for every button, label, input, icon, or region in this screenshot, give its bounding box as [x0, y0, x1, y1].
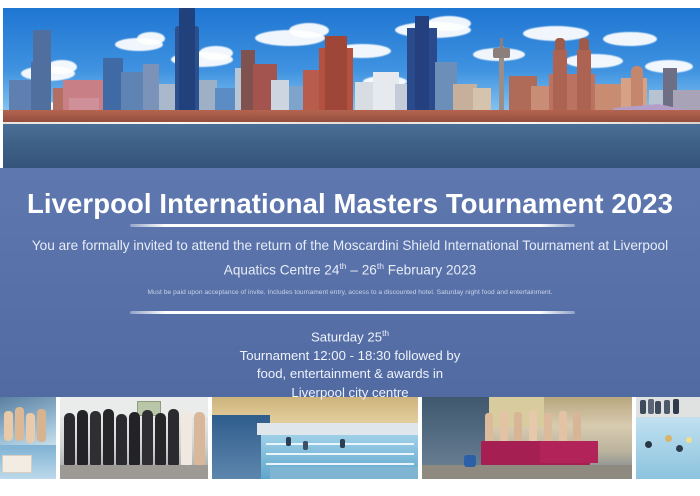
club-banner-pink-second [540, 441, 599, 463]
event-invitation-poster: Liverpool International Masters Tourname… [0, 0, 700, 496]
radio-city-tower-top [493, 48, 510, 58]
schedule-block: Saturday 25th Tournament 12:00 - 18:30 f… [0, 324, 700, 402]
team-member-figure [90, 411, 101, 465]
invitation-line-1: You are formally invited to attend the r… [32, 238, 668, 253]
invitation-body-panel: Liverpool International Masters Tourname… [0, 168, 700, 398]
pool-edge [270, 467, 418, 479]
schedule-times: Tournament 12:00 - 18:30 followed by [240, 348, 461, 363]
poolside-floor [60, 465, 208, 479]
team-member-figure [129, 412, 140, 465]
pool-deck [257, 423, 418, 435]
cloud-shape [137, 32, 165, 45]
liverpool-skyline-image [3, 8, 700, 170]
schedule-day: Saturday 25 [311, 329, 382, 344]
schedule-location: Liverpool city centre [291, 385, 408, 400]
schedule-activities: food, entertainment & awards in [257, 366, 443, 381]
building-tower-west [179, 8, 195, 124]
month-year: February 2023 [384, 263, 476, 278]
date-range-separator: – 26 [347, 263, 377, 278]
spectator-figure [303, 441, 308, 450]
photo-team-group [60, 397, 208, 479]
swimmer-figure [26, 413, 35, 443]
cloud-shape [565, 54, 623, 68]
spectator-figure [340, 439, 345, 448]
cloud-shape [47, 60, 77, 74]
certificate-shape [2, 455, 32, 473]
building-tower-east [415, 16, 429, 124]
team-member-figure [103, 409, 114, 465]
date-ordinal-end: th [377, 261, 384, 271]
photo-squad-with-banner [422, 397, 632, 479]
water-polo-ball [686, 437, 692, 443]
swimmer-figure [15, 407, 24, 441]
team-member-figure [155, 413, 166, 465]
team-member-figure [194, 412, 205, 465]
team-member-figure [64, 413, 75, 465]
venue-dates-prefix: Aquatics Centre 24 [224, 263, 340, 278]
lane-rope [266, 453, 414, 455]
team-member-figure [77, 410, 88, 465]
water-polo-player [676, 445, 683, 452]
cloud-shape [289, 23, 329, 38]
invitation-text: You are formally invited to attend the r… [12, 236, 688, 281]
cloud-shape [603, 32, 657, 46]
river-mersey-water [3, 124, 700, 170]
team-member-figure [142, 410, 153, 465]
spectator-figure [286, 437, 291, 446]
schedule-day-ordinal: th [382, 328, 389, 338]
photo-swimmers-poolside [0, 397, 56, 479]
water-polo-player [645, 441, 652, 448]
swimmer-figure [4, 411, 13, 441]
royal-liver-dome-left [555, 38, 565, 50]
page-title: Liverpool International Masters Tourname… [0, 188, 700, 220]
team-member-figure [116, 414, 127, 465]
photo-water-polo-match [636, 397, 700, 479]
date-ordinal-start: th [339, 261, 346, 271]
royal-liver-dome-right [579, 38, 589, 50]
divider-bottom [130, 311, 575, 314]
cloud-shape [199, 46, 233, 60]
team-member-figure [181, 411, 192, 465]
pool-water-area [636, 419, 700, 479]
poolside-floor [422, 465, 632, 479]
spectator-figure [655, 401, 661, 414]
kit-bag [464, 455, 476, 467]
team-member-figure [168, 409, 179, 465]
radio-city-tower-mast [500, 38, 503, 48]
photo-strip [0, 397, 700, 479]
swimmer-figure [37, 409, 46, 442]
fineprint-text: Must be paid upon acceptance of invite. … [20, 288, 680, 298]
divider-top [130, 224, 575, 227]
photo-aquatics-centre-pool [212, 397, 418, 479]
lane-rope [266, 463, 414, 465]
